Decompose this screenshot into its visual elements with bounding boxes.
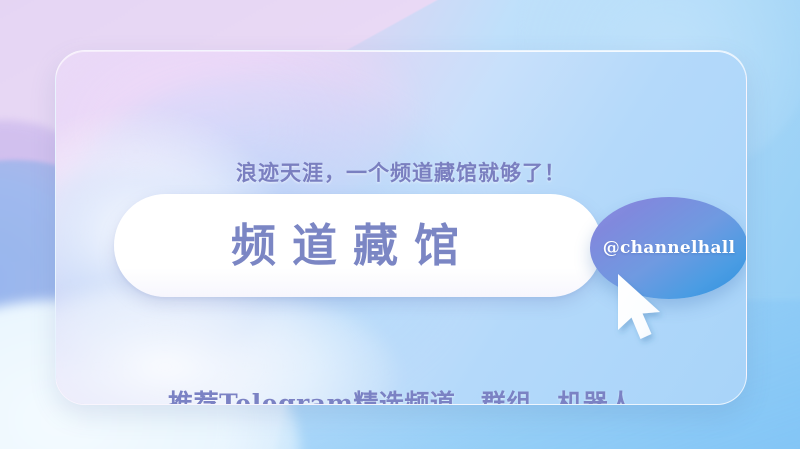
page-title: 频道藏馆 <box>215 223 475 268</box>
mouse-pointer-icon <box>612 272 672 356</box>
title-row: 频道藏馆 @channelhall <box>114 194 694 304</box>
subtitle: 推荐Telegram精选频道、群组、机器人 <box>56 384 746 405</box>
banner-canvas: 浪迹天涯，一个频道藏馆就够了！ 频道藏馆 @channelhall 推荐Tele… <box>0 0 800 449</box>
tagline: 浪迹天涯，一个频道藏馆就够了！ <box>56 157 746 187</box>
title-pill[interactable]: 频道藏馆 <box>114 194 602 297</box>
handle-label: @channelhall <box>603 238 736 258</box>
